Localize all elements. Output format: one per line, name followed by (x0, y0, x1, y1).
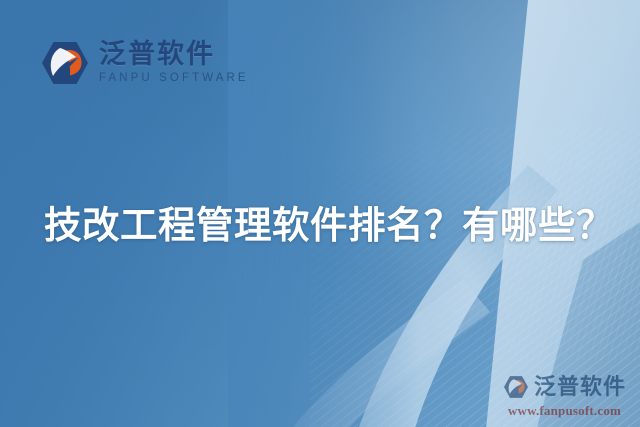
brand-name-cn: 泛普软件 (99, 40, 249, 69)
fanpu-logo-icon (40, 38, 90, 88)
brand-name-en: FANPU SOFTWARE (99, 72, 249, 86)
banner-headline: 技改工程管理软件排名？有哪些？ (44, 201, 636, 249)
marketing-banner: 泛普软件 FANPU SOFTWARE 技改工程管理软件排名？有哪些？ 泛普软件… (0, 0, 640, 427)
brand-logo-text: 泛普软件 FANPU SOFTWARE (99, 40, 249, 86)
brand-logo[interactable]: 泛普软件 FANPU SOFTWARE (40, 38, 249, 88)
